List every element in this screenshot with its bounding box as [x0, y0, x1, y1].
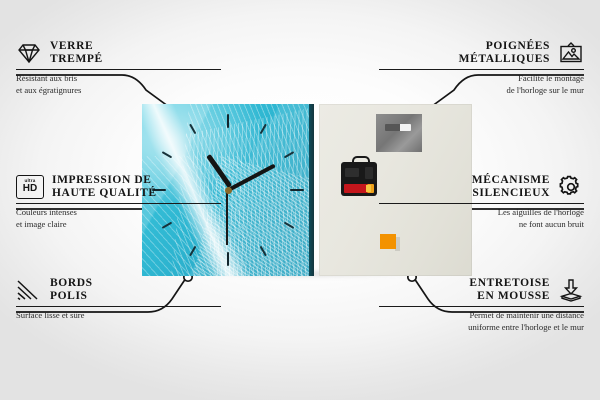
callout-title-line2: MÉTALLIQUES [459, 53, 550, 66]
foam-spacer [380, 234, 396, 249]
minute-hand [228, 164, 276, 192]
foam-spacer-arrow-icon [558, 278, 584, 302]
callout-mecanisme-silencieux[interactable]: MÉCANISME SILENCIEUX Les aiguilles de l'… [379, 174, 584, 231]
callout-subtitle: Permet de maintenir une distance uniform… [379, 307, 584, 333]
picture-frame-hanger-icon [558, 41, 584, 65]
ultra-hd-badge-icon: ultra HD [16, 175, 44, 199]
glass-edge [309, 104, 314, 276]
callout-title-line1: ENTRETOISE [469, 277, 550, 290]
callout-subtitle: Les aiguilles de l'horloge ne font aucun… [379, 204, 584, 230]
second-hand [226, 189, 228, 245]
callout-title-line1: IMPRESSION DE [52, 174, 157, 187]
callout-subtitle: Surface lisse et sûre [16, 307, 221, 322]
polished-edge-icon [16, 278, 42, 302]
callout-poignees-metalliques[interactable]: POIGNÉES MÉTALLIQUES Facilite le montage… [379, 40, 584, 97]
hands-center-cap [225, 187, 232, 194]
callout-verre-trempe[interactable]: VERRE TREMPÉ Résistant aux bris et aux é… [16, 40, 221, 97]
clock-mechanism [341, 162, 377, 196]
badge-hd-text: HD [23, 184, 37, 194]
metal-hanger-plate [376, 114, 422, 152]
callout-subtitle: Résistant aux bris et aux égratignures [16, 70, 221, 96]
callout-entretoise-en-mousse[interactable]: ENTRETOISE EN MOUSSE Permet de maintenir… [379, 277, 584, 334]
callout-title-line1: BORDS [50, 277, 93, 290]
callout-title-line1: POIGNÉES [486, 40, 550, 53]
callout-bords-polis[interactable]: BORDS POLIS Surface lisse et sûre [16, 277, 221, 322]
battery [344, 184, 374, 193]
callout-title-line2: TREMPÉ [50, 53, 103, 66]
callout-subtitle: Facilite le montage de l'horloge sur le … [379, 70, 584, 96]
infographic-canvas: VERRE TREMPÉ Résistant aux bris et aux é… [0, 0, 600, 400]
diamond-icon [16, 41, 42, 65]
gear-icon [558, 175, 584, 199]
callout-impression-haute-qualite[interactable]: ultra HD IMPRESSION DE HAUTE QUALITÉ Cou… [16, 174, 221, 231]
callout-title-line1: MÉCANISME [472, 174, 550, 187]
callout-title-line2: HAUTE QUALITÉ [52, 187, 157, 200]
callout-subtitle: Couleurs intenses et image claire [16, 204, 221, 230]
callout-title-line1: VERRE [50, 40, 103, 53]
callout-title-line2: SILENCIEUX [472, 187, 550, 200]
callout-title-line2: POLIS [50, 290, 93, 303]
callout-title-line2: EN MOUSSE [477, 290, 550, 303]
